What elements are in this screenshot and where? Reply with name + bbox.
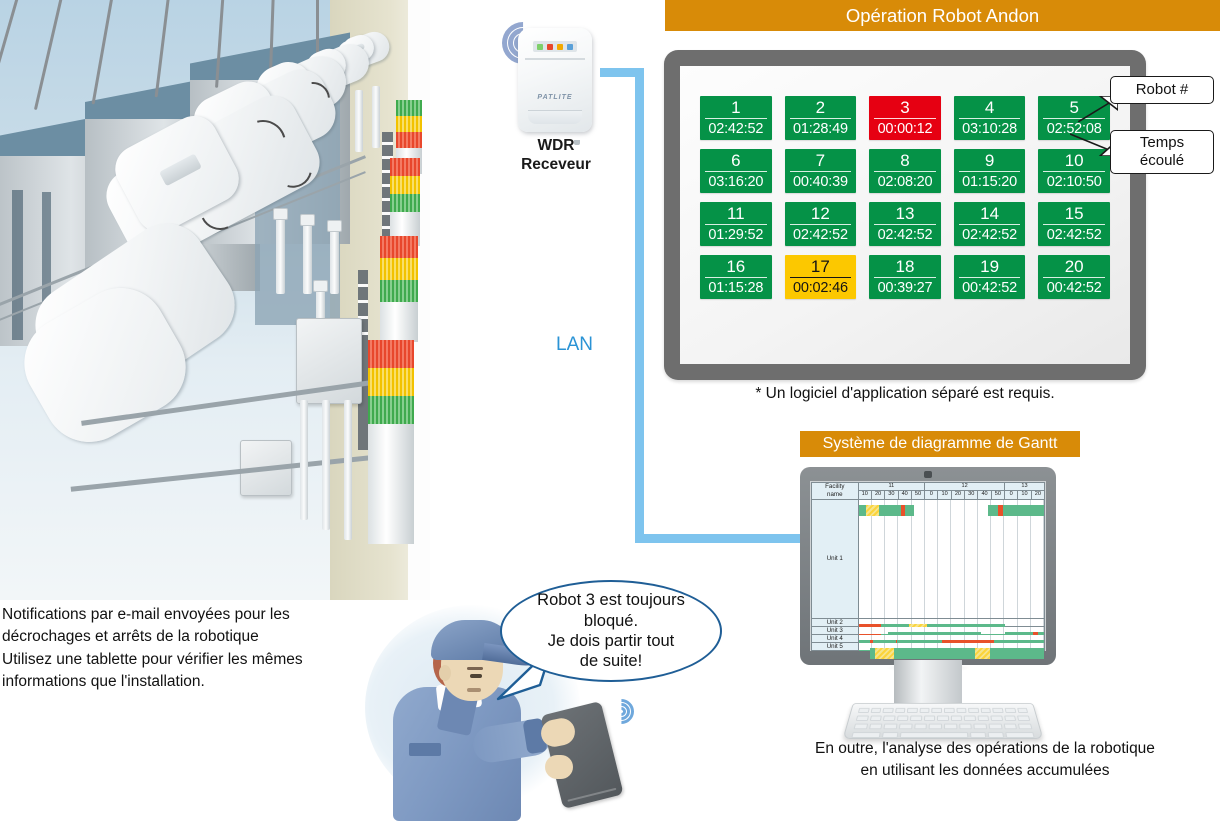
machine-spindle-cap (327, 220, 342, 232)
gantt-segment-g (894, 648, 976, 659)
machine-piston (344, 400, 352, 540)
gantt-bar (859, 648, 1044, 659)
gantt-tick-label: 40 (898, 491, 911, 499)
gantt-row-track (858, 499, 1044, 618)
gantt-tick-label: 10 (938, 491, 951, 499)
gantt-facility-name-header: Facilityname (812, 483, 859, 500)
gantt-row[interactable]: Unit 1 (812, 499, 1045, 618)
receiver-body: PATLITE (518, 28, 592, 132)
receiver-seam (525, 58, 585, 60)
robot-cell-8[interactable]: 802:08:20 (869, 149, 941, 193)
gantt-hour-header-row: Facilityname111213 (812, 483, 1045, 491)
robot-cell-13[interactable]: 1302:42:52 (869, 202, 941, 246)
gantt-row[interactable]: Unit 5 (812, 642, 1045, 650)
gantt-row[interactable]: Unit 2 (812, 618, 1045, 626)
gantt-row-name: Unit 5 (812, 642, 859, 650)
gantt-segment-g (859, 505, 866, 516)
machine-spindle-cap (300, 214, 315, 226)
signal-tower (390, 158, 420, 246)
robot-number: 17 (790, 255, 852, 278)
lan-cable-vertical (635, 68, 644, 543)
robot-number: 3 (874, 96, 936, 119)
robot-number: 15 (1043, 202, 1105, 225)
callout-robot-number: Robot # (1110, 76, 1214, 104)
robot-elapsed-time: 02:42:52 (1038, 225, 1110, 246)
worker-eyebrow (467, 667, 483, 670)
gantt-tick-label: 30 (885, 491, 898, 499)
robot-elapsed-time: 03:16:20 (700, 172, 772, 193)
callout-elapsed-line2: écoulé (1140, 152, 1184, 170)
machine-piston (322, 400, 330, 530)
gantt-row-track (858, 618, 1044, 626)
gantt-hour-12: 12 (925, 483, 1005, 491)
gantt-tick-label: 40 (978, 491, 991, 499)
robot-cell-20[interactable]: 2000:42:52 (1038, 255, 1110, 299)
factory-robot-illustration (0, 0, 430, 600)
wdr-receiver: PATLITE WDR Receveur (500, 18, 610, 168)
robot-number: 1 (705, 96, 767, 119)
gantt-monitor: Facilityname111213 102030405001020304050… (800, 467, 1056, 665)
robot-cell-11[interactable]: 1101:29:52 (700, 202, 772, 246)
gantt-segment-y (866, 505, 879, 516)
gantt-banner-title: Système de diagramme de Gantt (800, 431, 1080, 457)
robot-elapsed-time: 02:42:52 (700, 119, 772, 140)
gantt-segment-y (975, 648, 990, 659)
keyboard[interactable] (842, 703, 1043, 739)
robot-elapsed-time: 01:29:52 (700, 225, 772, 246)
andon-monitor-screen: 102:42:52201:28:49300:00:12403:10:28502:… (680, 66, 1130, 364)
robot-cell-16[interactable]: 1601:15:28 (700, 255, 772, 299)
worker-eye (470, 674, 482, 678)
gantt-tick-label: 10 (1018, 491, 1031, 499)
worker-pocket (409, 743, 441, 756)
robot-elapsed-time: 03:10:28 (954, 119, 1026, 140)
robot-number: 14 (959, 202, 1021, 225)
robot-elapsed-time: 00:42:52 (954, 278, 1026, 299)
email-notification-note: Notifications par e-mail envoyées pour l… (2, 604, 372, 694)
robot-elapsed-time: 02:42:52 (954, 225, 1026, 246)
robot-elapsed-time: 00:00:12 (869, 119, 941, 140)
robot-number: 9 (959, 149, 1021, 172)
gantt-row[interactable]: Unit 4 (812, 634, 1045, 642)
gantt-segment-w (914, 505, 988, 516)
robot-cell-9[interactable]: 901:15:20 (954, 149, 1026, 193)
gantt-tick-label: 30 (965, 491, 978, 499)
lan-label: LAN (556, 334, 593, 356)
robot-number: 18 (874, 255, 936, 278)
robot-number: 11 (705, 202, 767, 225)
cable-tray-rung (382, 142, 393, 145)
robot-number: 12 (790, 202, 852, 225)
machine-spindle-cap (273, 208, 288, 220)
gantt-segment-g (990, 648, 1044, 659)
speech-bubble-text: Robot 3 est toujoursbloqué.Je dois parti… (537, 590, 685, 672)
gantt-row-name: Unit 3 (812, 626, 859, 634)
robot-elapsed-time: 00:42:52 (1038, 278, 1110, 299)
gantt-row-name: Unit 4 (812, 634, 859, 642)
gantt-segment-y (875, 648, 894, 659)
robot-elapsed-time: 02:08:20 (869, 172, 941, 193)
robot-number: 16 (705, 255, 767, 278)
webcam-icon (924, 471, 932, 478)
lan-cable-horizontal-bottom (635, 534, 805, 543)
overhead-cable (0, 0, 21, 115)
gantt-hour-11: 11 (858, 483, 925, 491)
gantt-tick-label: 20 (1031, 491, 1044, 499)
andon-monitor: 102:42:52201:28:49300:00:12403:10:28502:… (664, 50, 1146, 380)
callout-elapsed-line1: Temps (1140, 134, 1184, 152)
receiver-led-strip (533, 41, 577, 52)
robot-cell-7[interactable]: 700:40:39 (785, 149, 857, 193)
worker-mouth (467, 688, 481, 692)
machine-piston (300, 400, 308, 520)
robot-cell-17[interactable]: 1700:02:46 (785, 255, 857, 299)
robot-cell-19[interactable]: 1900:42:52 (954, 255, 1026, 299)
gantt-monitor-screen: Facilityname111213 102030405001020304050… (810, 481, 1046, 651)
machine-spindle (372, 86, 380, 148)
receiver-caption: WDR Receveur (496, 136, 616, 175)
gantt-table-head: Facilityname111213 102030405001020304050… (812, 483, 1045, 500)
monitor-stand (894, 660, 962, 708)
gantt-row-track (858, 626, 1044, 634)
robot-elapsed-time: 00:39:27 (869, 278, 941, 299)
infographic-canvas: PATLITE WDR Receveur LAN Opération Robot… (0, 0, 1220, 821)
robot-number: 19 (959, 255, 1021, 278)
overhead-cable (155, 0, 171, 97)
gantt-segment-g (905, 505, 914, 516)
signal-tower (368, 340, 414, 544)
gantt-row-track (858, 642, 1044, 650)
gantt-tick-label: 10 (858, 491, 871, 499)
andon-app-note: * Un logiciel d'application séparé est r… (690, 385, 1120, 403)
gantt-row-track (858, 634, 1044, 642)
gantt-tick-label: 50 (991, 491, 1004, 499)
robot-cell-1[interactable]: 102:42:52 (700, 96, 772, 140)
andon-banner-title: Opération Robot Andon (665, 0, 1220, 31)
gantt-segment-g (1003, 505, 1044, 516)
cable-tray-rung (358, 284, 368, 287)
machine-spindle (355, 90, 363, 152)
receiver-caption-line2: Receveur (496, 155, 616, 174)
gantt-bar (859, 505, 1044, 516)
gantt-tick-label: 20 (951, 491, 964, 499)
robot-number: 13 (874, 202, 936, 225)
gantt-tick-label: 50 (911, 491, 924, 499)
gantt-row-name: Unit 2 (812, 618, 859, 626)
robot-elapsed-time: 02:42:52 (785, 225, 857, 246)
receiver-vent (528, 110, 582, 124)
machine-spindle (303, 222, 312, 294)
gantt-tick-label: 20 (871, 491, 884, 499)
worker-ear (439, 665, 451, 681)
machine-spindle-cap (313, 280, 328, 292)
robot-cell-4[interactable]: 403:10:28 (954, 96, 1026, 140)
robot-cell-15[interactable]: 1502:42:52 (1038, 202, 1110, 246)
robot-number: 4 (959, 96, 1021, 119)
gantt-segment-g (988, 505, 997, 516)
gantt-row-name: Unit 1 (812, 499, 859, 618)
overhead-cable (34, 0, 65, 110)
machine-spindle (330, 228, 339, 294)
robot-number: 2 (790, 96, 852, 119)
machine-spindle (276, 216, 285, 294)
robot-elapsed-time: 01:15:20 (954, 172, 1026, 193)
gantt-hour-13: 13 (1005, 483, 1045, 491)
callout-elapsed-time: Temps écoulé (1110, 130, 1214, 174)
robot-elapsed-time: 00:02:46 (785, 278, 857, 299)
cable-tray-rung (358, 300, 368, 303)
robot-cell-2[interactable]: 201:28:49 (785, 96, 857, 140)
signal-tower (380, 236, 418, 342)
robot-number: 20 (1043, 255, 1105, 278)
robot-cell-3[interactable]: 300:00:12 (869, 96, 941, 140)
gantt-row[interactable]: Unit 3 (812, 626, 1045, 634)
robot-elapsed-time: 02:10:50 (1038, 172, 1110, 193)
robot-number: 6 (705, 149, 767, 172)
robot-cell-14[interactable]: 1402:42:52 (954, 202, 1026, 246)
robot-cell-12[interactable]: 1202:42:52 (785, 202, 857, 246)
worker-hand-lower (545, 755, 573, 779)
speech-bubble: Robot 3 est toujoursbloqué.Je dois parti… (500, 580, 722, 682)
gantt-tick-label: 0 (925, 491, 938, 499)
robot-elapsed-time: 00:40:39 (785, 172, 857, 193)
gantt-table: Facilityname111213 102030405001020304050… (811, 482, 1045, 651)
gantt-segment-g (879, 505, 901, 516)
robot-elapsed-time: 01:28:49 (785, 119, 857, 140)
gantt-segment-w (859, 648, 870, 659)
receiver-brand-logo: PATLITE (518, 94, 592, 101)
robot-number: 7 (790, 149, 852, 172)
robot-cell-18[interactable]: 1800:39:27 (869, 255, 941, 299)
robot-elapsed-time: 02:42:52 (869, 225, 941, 246)
robot-status-grid: 102:42:52201:28:49300:00:12403:10:28502:… (700, 96, 1110, 299)
gantt-tick-label: 0 (1005, 491, 1018, 499)
robot-cell-6[interactable]: 603:16:20 (700, 149, 772, 193)
robot-number: 8 (874, 149, 936, 172)
gantt-analysis-note: En outre, l'analyse des opérations de la… (760, 738, 1210, 781)
gantt-table-body: Unit 1Unit 2Unit 3Unit 4Unit 5 (812, 499, 1045, 650)
receiver-caption-line1: WDR (496, 136, 616, 155)
robot-elapsed-time: 01:15:28 (700, 278, 772, 299)
